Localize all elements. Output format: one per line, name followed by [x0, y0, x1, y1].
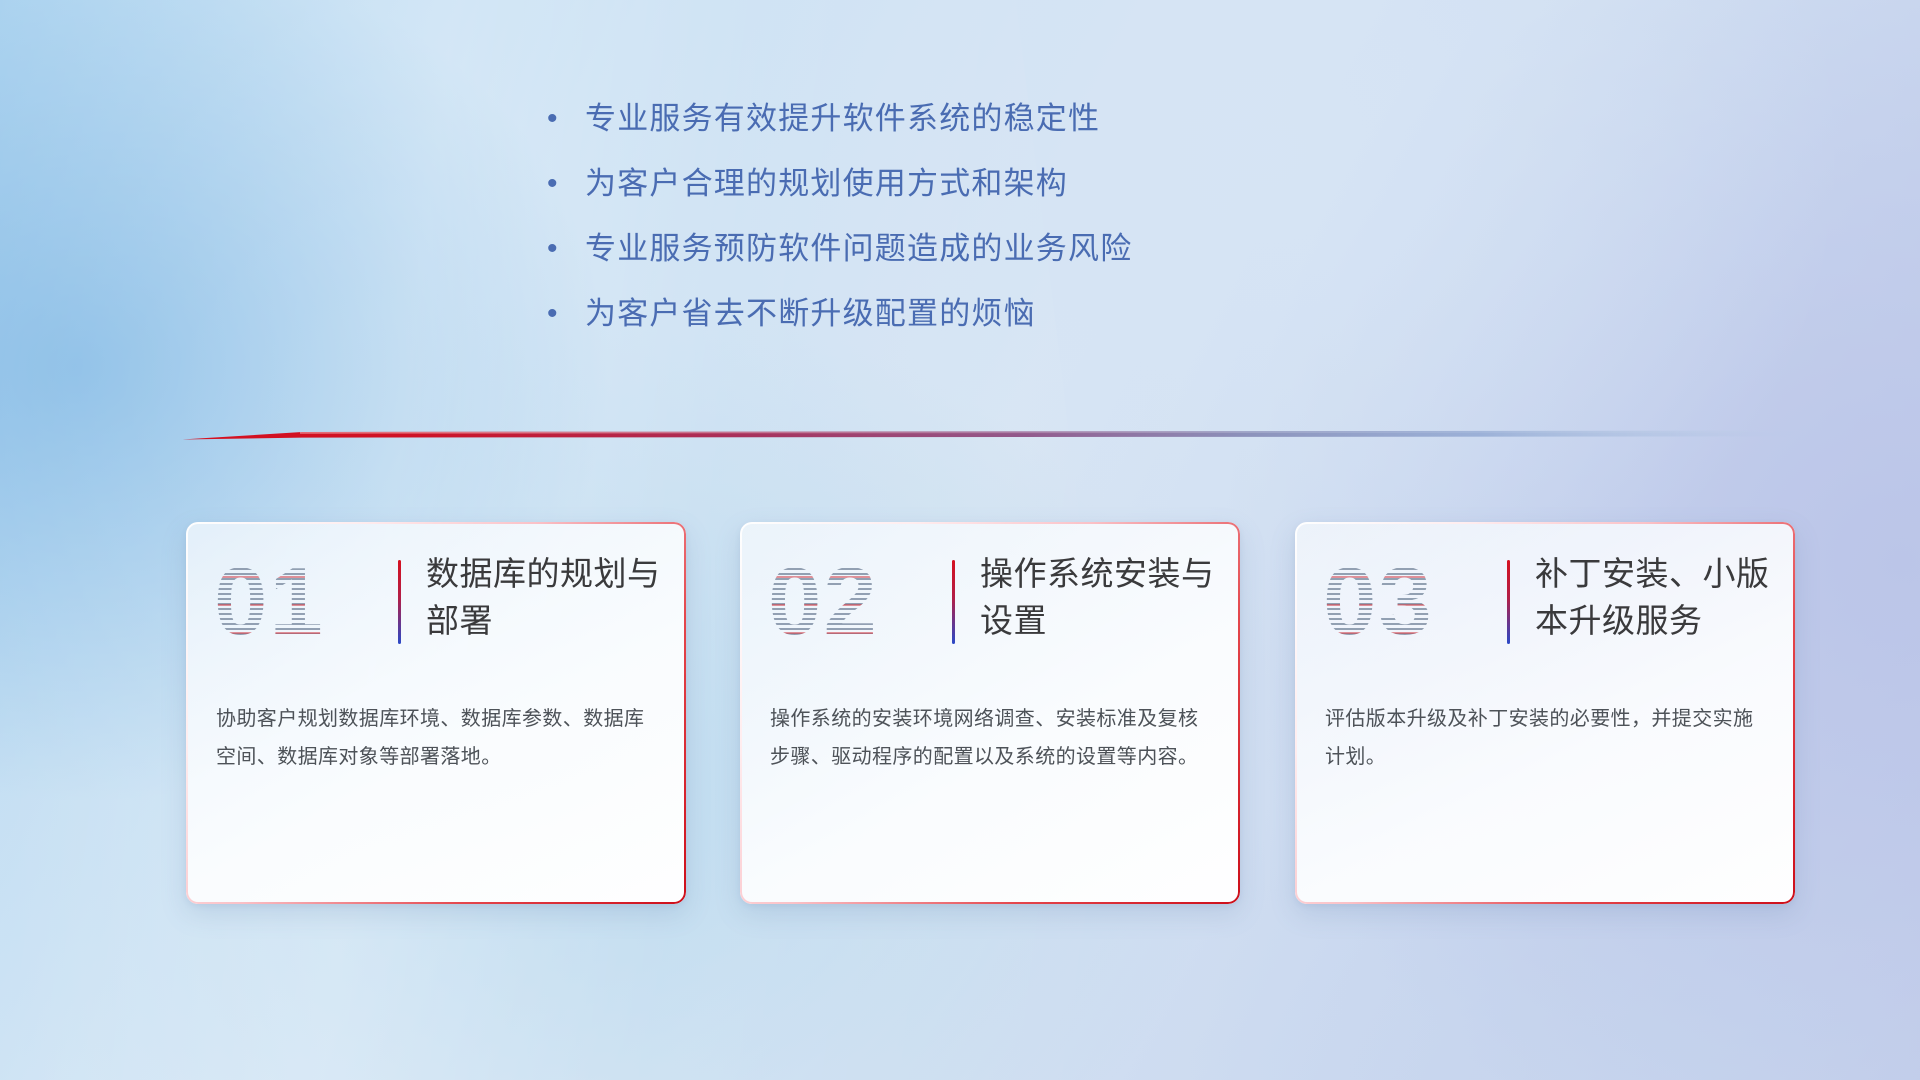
- slide-canvas: • 专业服务有效提升软件系统的稳定性 • 为客户合理的规划使用方式和架构 • 专…: [0, 0, 1920, 1080]
- card-accent-rule: [952, 560, 955, 644]
- card-body-text: 协助客户规划数据库环境、数据库参数、数据库空间、数据库对象等部署落地。: [216, 700, 656, 776]
- service-card-03[interactable]: 03 03 补丁安装、小版本升级服务 评估版本升级及补丁安装的必要性，并提交实施…: [1295, 522, 1795, 904]
- card-number-watermark: 01: [214, 548, 366, 656]
- card-number-watermark: 03: [1323, 548, 1475, 656]
- card-body-text: 评估版本升级及补丁安装的必要性，并提交实施计划。: [1325, 700, 1765, 776]
- card-accent-rule: [1507, 560, 1510, 644]
- card-header: 01 01 数据库的规划与部署: [186, 522, 686, 672]
- service-card-02[interactable]: 02 02 操作系统安装与设置 操作系统的安装环境网络调查、安装标准及复核步骤、…: [740, 522, 1240, 904]
- card-title: 数据库的规划与部署: [426, 550, 662, 644]
- card-number-watermark: 02: [768, 548, 920, 656]
- card-body-text: 操作系统的安装环境网络调查、安装标准及复核步骤、驱动程序的配置以及系统的设置等内…: [770, 700, 1210, 776]
- service-card-group: 01 01 数据库的规划与部署 协助客户规划数据库环境、数据库参数、数据库空间、…: [0, 0, 1920, 1080]
- card-header: 03 03 补丁安装、小版本升级服务: [1295, 522, 1795, 672]
- card-title: 补丁安装、小版本升级服务: [1535, 550, 1771, 644]
- card-accent-rule: [398, 560, 401, 644]
- card-header: 02 02 操作系统安装与设置: [740, 522, 1240, 672]
- service-card-01[interactable]: 01 01 数据库的规划与部署 协助客户规划数据库环境、数据库参数、数据库空间、…: [186, 522, 686, 904]
- card-title: 操作系统安装与设置: [980, 550, 1216, 644]
